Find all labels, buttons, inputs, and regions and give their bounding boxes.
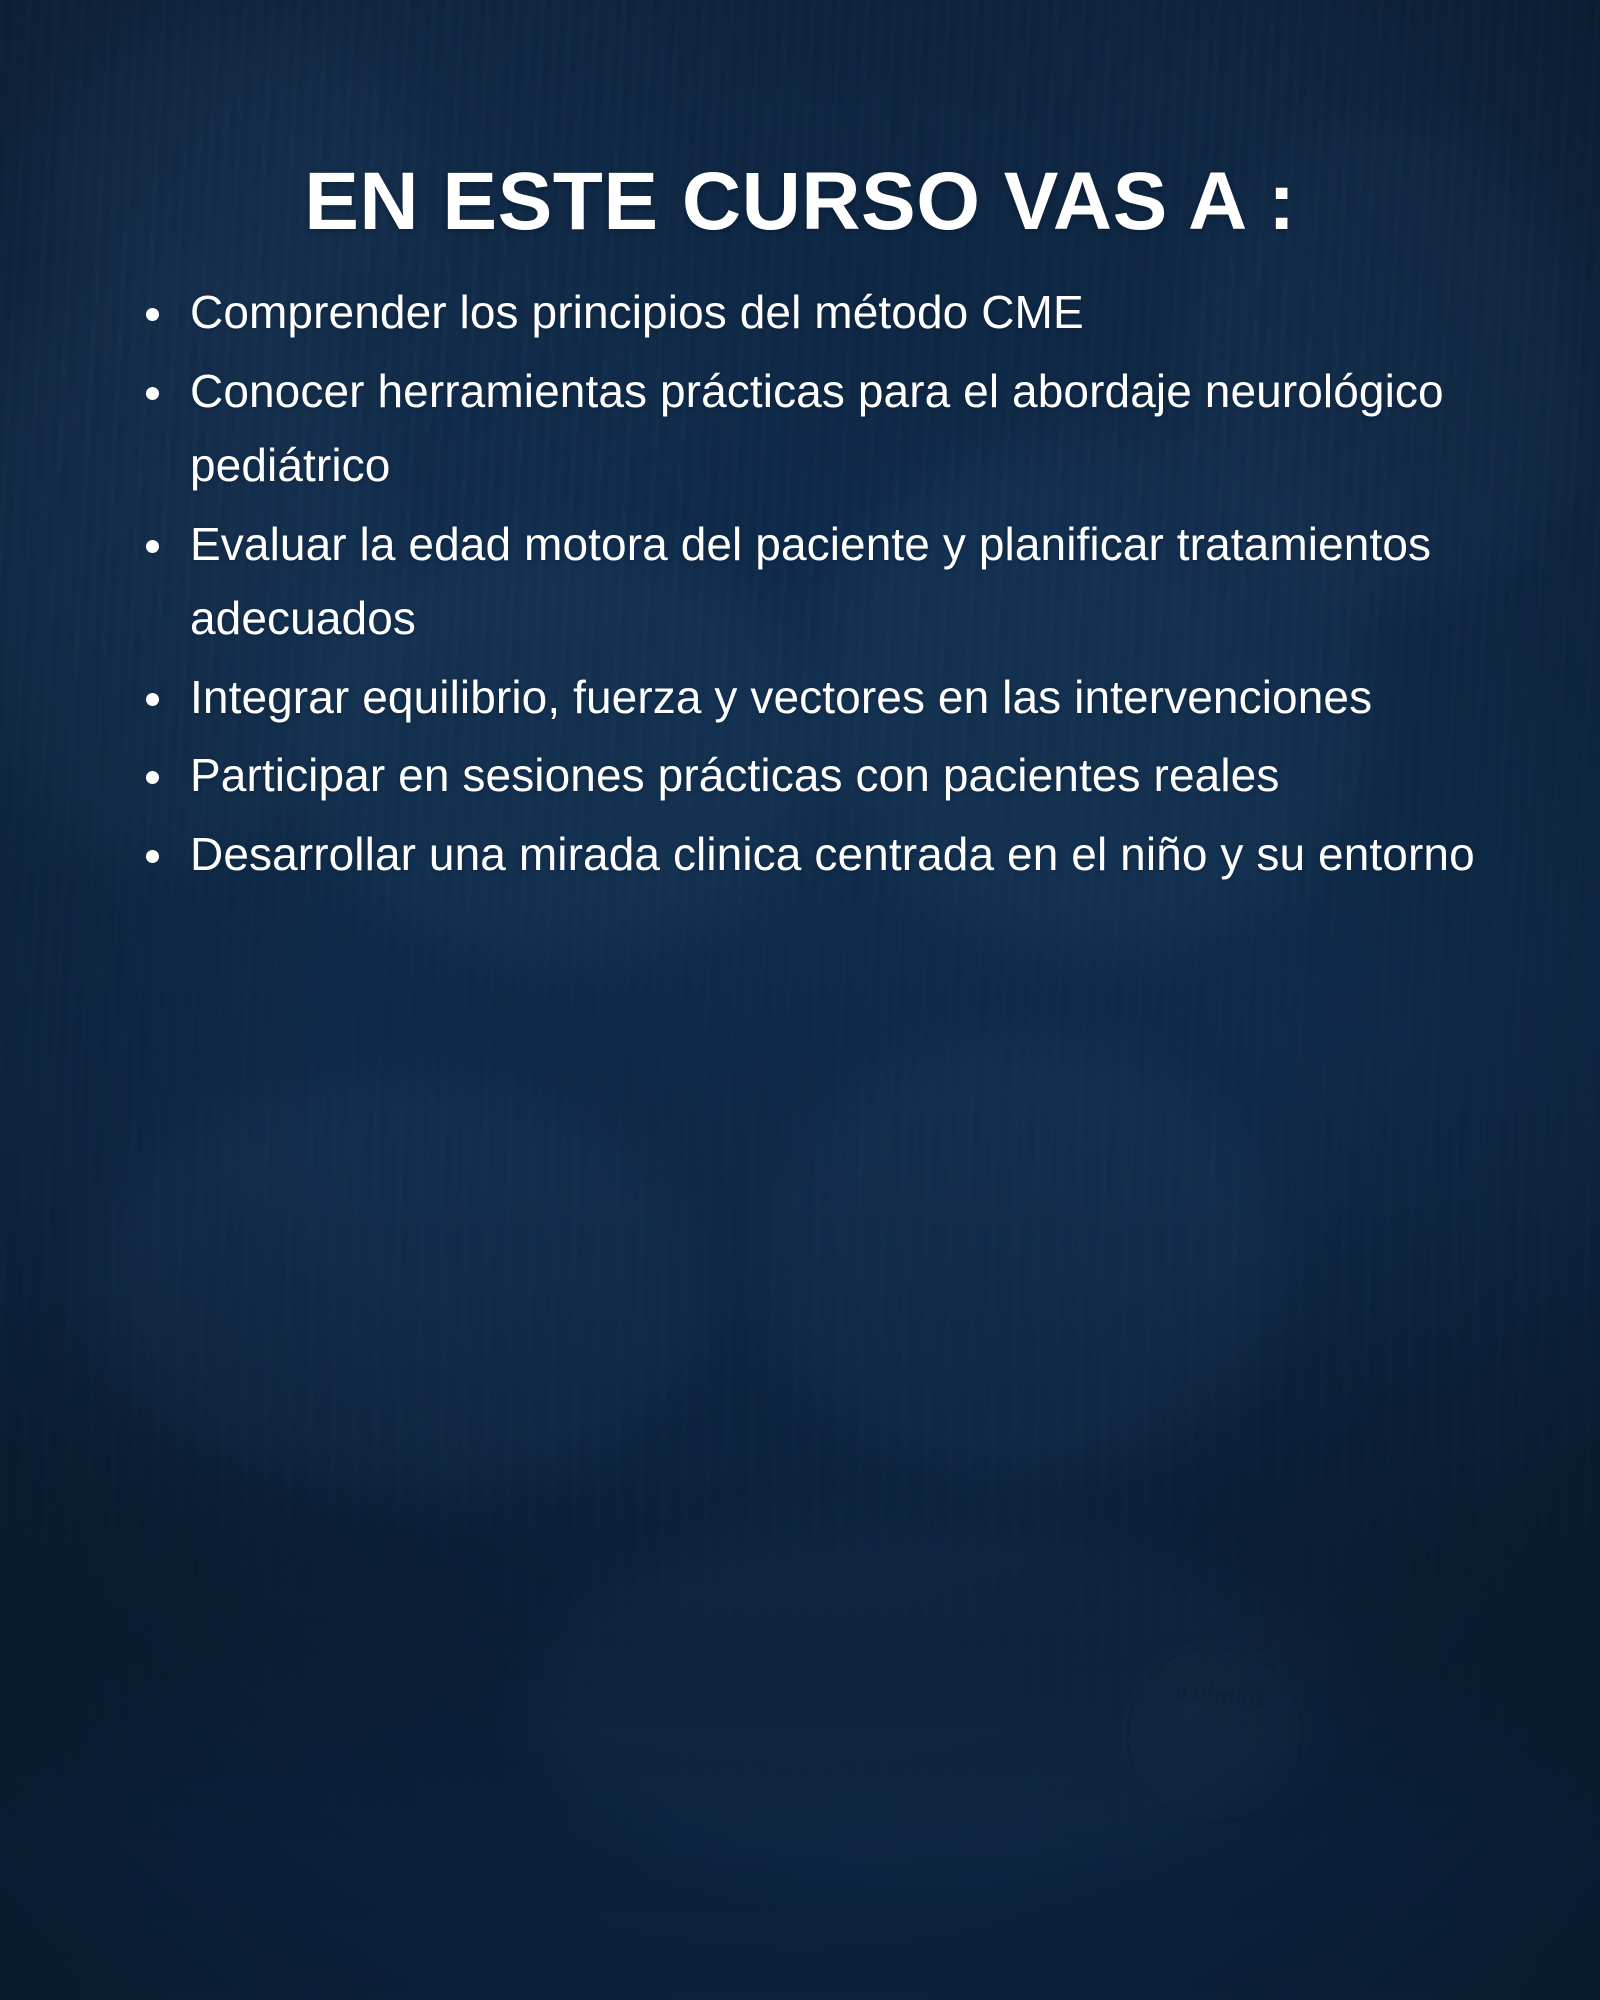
list-item-label: Participar en sesiones prácticas con pac… <box>190 749 1279 801</box>
list-item-label: Desarrollar una mirada clinica centrada … <box>190 828 1475 880</box>
bullet-dot-icon <box>146 693 159 706</box>
bullet-dot-icon <box>146 850 159 863</box>
bullet-dot-icon <box>146 308 159 321</box>
promo-slide: Bambeo my Ball EN ESTE CURSO VAS A : Com… <box>0 0 1600 2000</box>
bullet-dot-icon <box>146 387 159 400</box>
list-item-label: Evaluar la edad motora del paciente y pl… <box>190 518 1431 645</box>
page-title: EN ESTE CURSO VAS A : <box>0 159 1600 246</box>
bullet-dot-icon <box>146 540 159 553</box>
list-item-label: Conocer herramientas prácticas para el a… <box>190 365 1444 492</box>
course-outcomes-list: Comprender los principios del método CME… <box>132 275 1512 895</box>
slide-content: EN ESTE CURSO VAS A : Comprender los pri… <box>0 0 1600 2000</box>
list-item: Participar en sesiones prácticas con pac… <box>132 738 1512 813</box>
list-item: Conocer herramientas prácticas para el a… <box>132 354 1512 503</box>
bullet-dot-icon <box>146 771 159 784</box>
list-item: Desarrollar una mirada clinica centrada … <box>132 817 1512 892</box>
list-item: Evaluar la edad motora del paciente y pl… <box>132 507 1512 656</box>
list-item: Integrar equilibrio, fuerza y vectores e… <box>132 660 1512 735</box>
list-item: Comprender los principios del método CME <box>132 275 1512 350</box>
list-item-label: Integrar equilibrio, fuerza y vectores e… <box>190 671 1372 723</box>
list-item-label: Comprender los principios del método CME <box>190 286 1084 338</box>
